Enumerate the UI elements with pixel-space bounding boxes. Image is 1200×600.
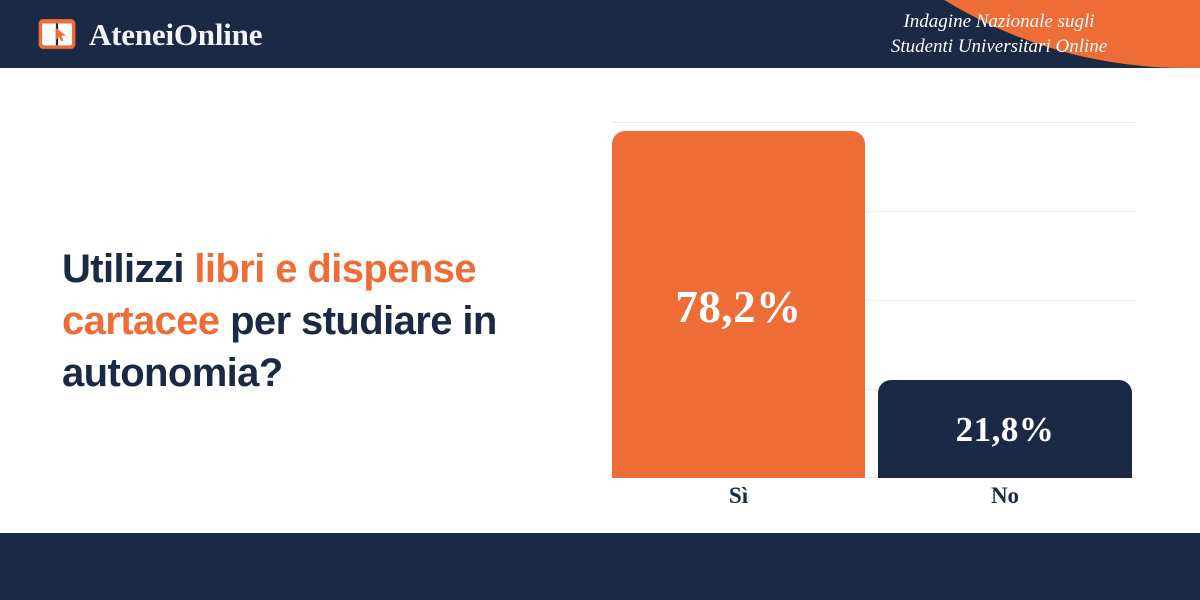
brand-name: AteneiOnline (89, 19, 262, 50)
bar-si[interactable]: 78,2% (612, 131, 865, 478)
infographic-canvas: AteneiOnline Indagine Nazionale sugli St… (0, 0, 1200, 600)
brand-logo[interactable]: AteneiOnline (36, 13, 262, 55)
page-footer (0, 533, 1200, 600)
bar-value-si: 78,2% (675, 281, 801, 333)
bar-label-si: Sì (612, 483, 865, 509)
bar-no[interactable]: 21,8% (878, 380, 1132, 478)
question-headline: Utilizzi libri e dispense cartacee per s… (62, 243, 572, 399)
headline-highlight-1: libri e dispense (194, 247, 476, 291)
page-header: AteneiOnline Indagine Nazionale sugli St… (0, 0, 1200, 68)
survey-tagline: Indagine Nazionale sugli Studenti Univer… (834, 9, 1164, 59)
headline-highlight-2: cartacee (62, 299, 220, 343)
open-book-cursor-icon (36, 13, 78, 55)
bar-chart: 78,2% 21,8% (612, 122, 1135, 478)
bar-label-no: No (878, 483, 1132, 509)
gridline-80 (612, 122, 1135, 123)
tagline-line-1: Indagine Nazionale sugli (834, 9, 1164, 34)
bar-value-no: 21,8% (956, 410, 1055, 450)
headline-text-1: Utilizzi (62, 247, 194, 291)
tagline-line-2: Studenti Universitari Online (834, 34, 1164, 59)
